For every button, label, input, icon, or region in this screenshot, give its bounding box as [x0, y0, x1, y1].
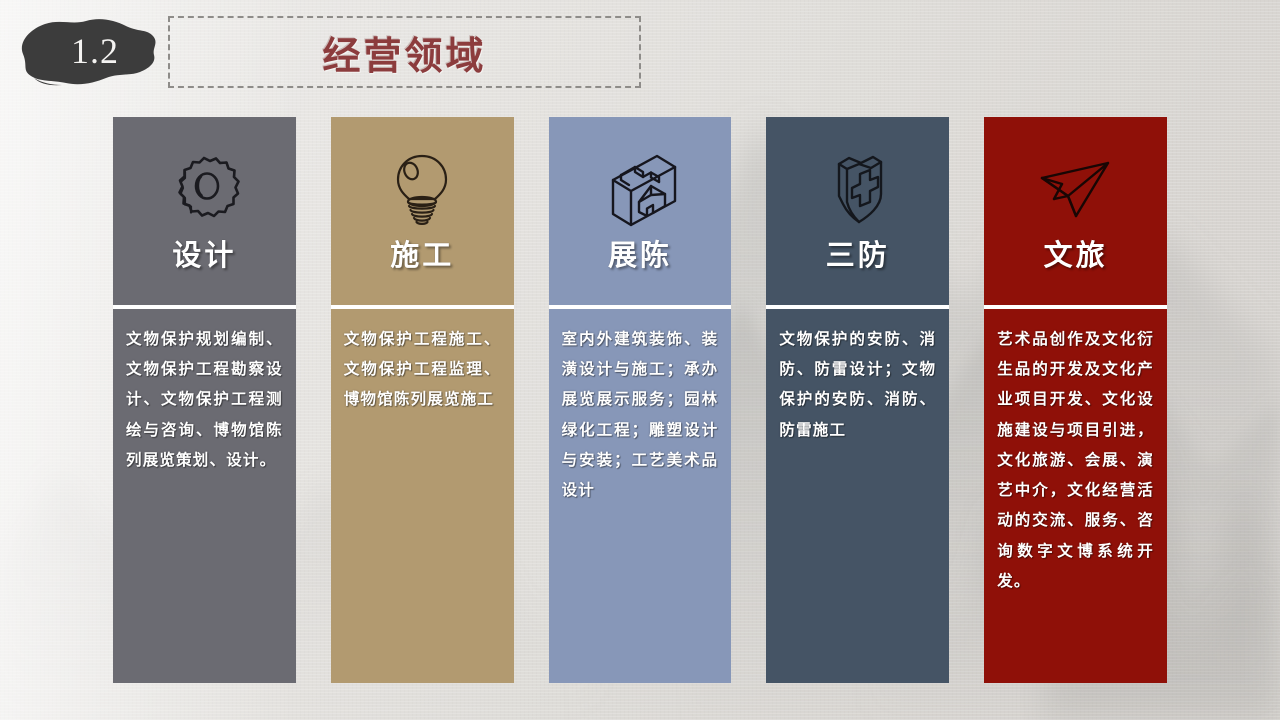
card-body-culture-tourism: 艺术品创作及文化衍生品的开发及文化产业项目开发、文化设施建设与项目引进，文化旅游… [984, 309, 1167, 683]
business-areas-row: 设计 文物保护规划编制、文物保护工程勘察设计、文物保护工程测绘与咨询、博物馆陈列… [113, 117, 1167, 683]
business-area-card-design[interactable]: 设计 文物保护规划编制、文物保护工程勘察设计、文物保护工程测绘与咨询、博物馆陈列… [113, 117, 296, 683]
business-area-card-three-protections[interactable]: 三防 文物保护的安防、消防、防雷设计；文物保护的安防、消防、防雷施工 [766, 117, 949, 683]
business-area-card-construction[interactable]: 施工 文物保护工程施工、文物保护工程监理、博物馆陈列展览施工 [331, 117, 514, 683]
card-title-exhibition: 展陈 [608, 241, 672, 273]
slide-header: 1.2 经营领域 [0, 0, 1280, 105]
card-title-culture-tourism: 文旅 [1044, 241, 1108, 273]
card-body-three-protections: 文物保护的安防、消防、防雷设计；文物保护的安防、消防、防雷施工 [766, 309, 949, 683]
card-body-design: 文物保护规划编制、文物保护工程勘察设计、文物保护工程测绘与咨询、博物馆陈列展览策… [113, 309, 296, 683]
card-title-three-protections: 三防 [826, 241, 890, 273]
card-header-three-protections: 三防 [766, 117, 949, 305]
business-area-card-exhibition[interactable]: 展陈 室内外建筑装饰、装潢设计与施工；承办展览展示服务；园林绿化工程；雕塑设计与… [549, 117, 732, 683]
gear-icon [158, 143, 250, 235]
card-header-exhibition: 展陈 [549, 117, 732, 305]
card-body-exhibition: 室内外建筑装饰、装潢设计与施工；承办展览展示服务；园林绿化工程；雕塑设计与安装；… [549, 309, 732, 683]
card-header-culture-tourism: 文旅 [984, 117, 1167, 305]
paper-plane-icon [1030, 143, 1122, 235]
card-header-construction: 施工 [331, 117, 514, 305]
business-area-card-culture-tourism[interactable]: 文旅 艺术品创作及文化衍生品的开发及文化产业项目开发、文化设施建设与项目引进，文… [984, 117, 1167, 683]
card-header-design: 设计 [113, 117, 296, 305]
briefcase-house-icon [594, 143, 686, 235]
slide-canvas: 1.2 经营领域 [0, 0, 1280, 720]
card-title-construction: 施工 [390, 241, 454, 273]
page-title: 经营领域 [168, 16, 641, 88]
lightbulb-icon [376, 143, 468, 235]
shield-cross-icon [812, 143, 904, 235]
card-body-construction: 文物保护工程施工、文物保护工程监理、博物馆陈列展览施工 [331, 309, 514, 683]
section-number: 1.2 [14, 12, 160, 90]
card-title-design: 设计 [172, 241, 236, 273]
